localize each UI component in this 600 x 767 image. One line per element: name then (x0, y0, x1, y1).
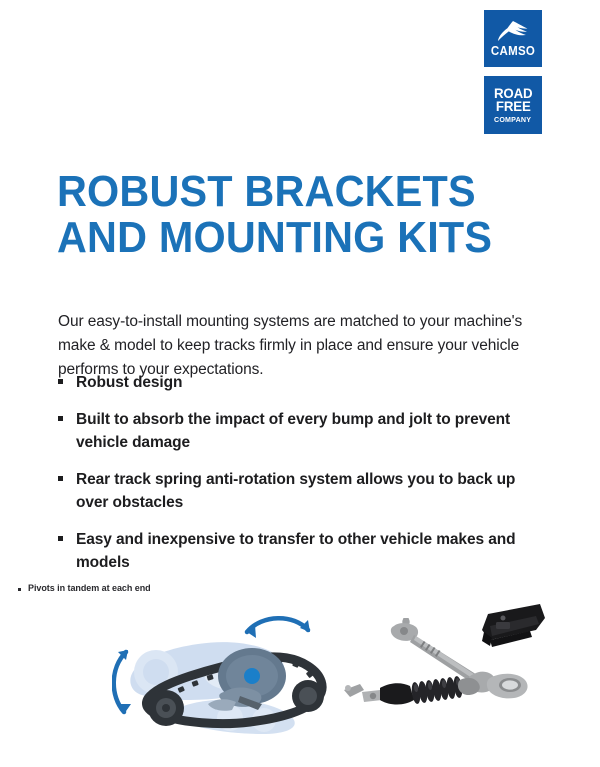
hardware-svg (340, 596, 545, 728)
coil-spring-damper (344, 676, 480, 705)
brand-logo-stack: CAMSO ROAD FREE COMPANY (484, 10, 542, 134)
rotation-arrow-left (114, 652, 126, 712)
feature-text: Easy and inexpensive to transfer to othe… (76, 528, 528, 574)
rotation-arrow-top (247, 618, 308, 632)
mounting-hardware-photo (340, 596, 545, 728)
square-bullet-icon (58, 476, 63, 481)
track-diagram-svg (112, 600, 347, 740)
rear-bogie-wheel (292, 680, 324, 712)
sprocket-hub (244, 668, 260, 684)
mounting-rail (482, 604, 545, 647)
feature-text: Built to absorb the impact of every bump… (76, 408, 528, 454)
camso-swoosh-icon (496, 20, 530, 44)
page-title-line-2: AND MOUNTING KITS (57, 215, 508, 261)
footnote: Pivots in tandem at each end (18, 583, 151, 594)
road-free-company-badge: ROAD FREE COMPANY (484, 76, 542, 134)
camso-logo: CAMSO (484, 10, 542, 67)
brochure-page: CAMSO ROAD FREE COMPANY ROBUST BRACKETS … (0, 0, 600, 767)
list-item: Robust design (58, 371, 528, 394)
camso-wordmark: CAMSO (491, 45, 535, 58)
list-item: Built to absorb the impact of every bump… (58, 408, 528, 454)
badge-line-company: COMPANY (494, 114, 531, 126)
square-bullet-icon (58, 379, 63, 384)
square-bullet-icon (18, 588, 21, 591)
square-bullet-icon (58, 416, 63, 421)
page-title: ROBUST BRACKETS AND MOUNTING KITS (57, 169, 537, 261)
footnote-text: Pivots in tandem at each end (28, 583, 151, 594)
front-bogie-wheel (148, 690, 184, 726)
page-title-line-1: ROBUST BRACKETS (57, 169, 508, 215)
list-item: Easy and inexpensive to transfer to othe… (58, 528, 528, 574)
feature-text: Rear track spring anti-rotation system a… (76, 468, 528, 514)
feature-text: Robust design (76, 371, 182, 394)
feature-list: Robust design Built to absorb the impact… (58, 371, 528, 588)
rubber-track-system-diagram (112, 600, 347, 740)
badge-line-free: FREE (496, 100, 531, 114)
list-item: Rear track spring anti-rotation system a… (58, 468, 528, 514)
square-bullet-icon (58, 536, 63, 541)
